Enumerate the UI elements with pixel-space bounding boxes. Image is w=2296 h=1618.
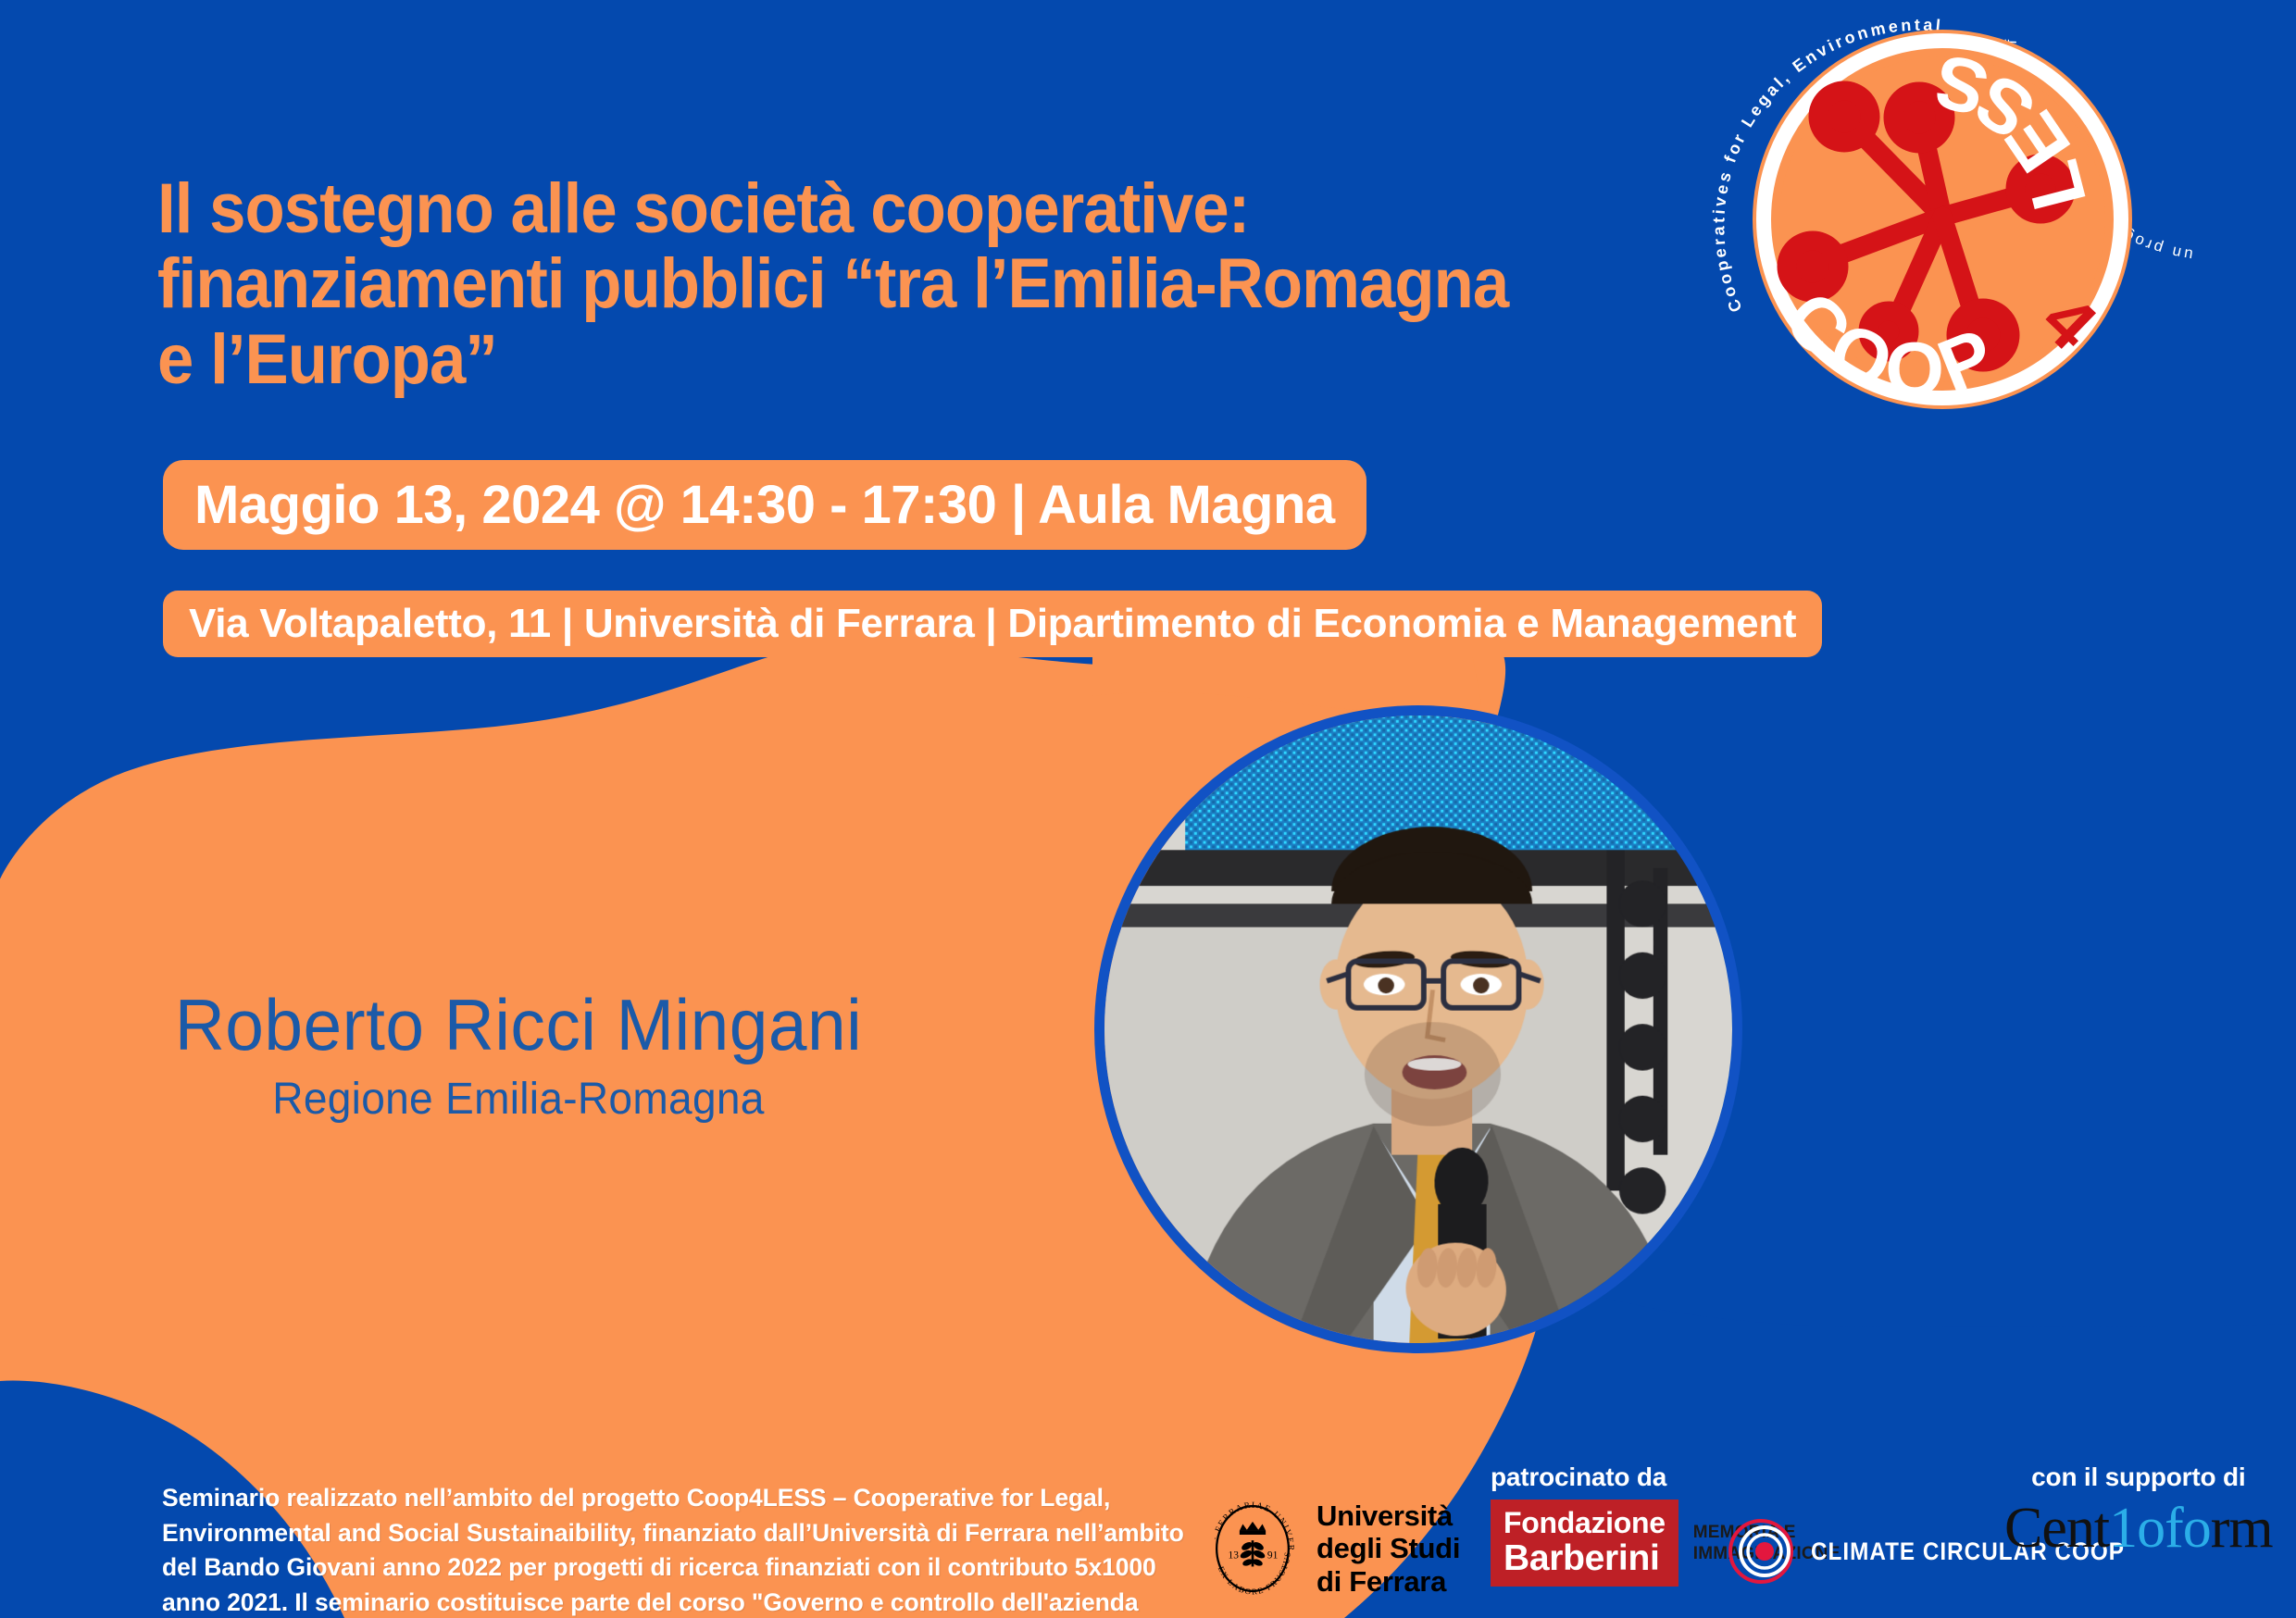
unife-name-line-2: degli Studi <box>1316 1532 1460 1564</box>
date-time-banner: Maggio 13, 2024 @ 14:30 - 17:30 | Aula M… <box>163 460 1366 550</box>
supporto-group: con il supporto di Cent1oform <box>2004 1462 2273 1557</box>
title-line-2: finanziamenti pubblici “tra l’Emilia-Rom… <box>157 246 1553 321</box>
centoform-part-2: o <box>2137 1497 2165 1560</box>
speaker-photo <box>1094 705 1742 1353</box>
centoform-one: 1 <box>2109 1497 2137 1560</box>
footer-note: Seminario realizzato nell’ambito del pro… <box>162 1481 1208 1618</box>
patrocinato-label: patrocinato da <box>1491 1462 1841 1492</box>
unife-name-line-1: Università <box>1316 1500 1460 1532</box>
event-poster: Il sostegno alle società cooperative: fi… <box>0 0 2296 1618</box>
poster-title: Il sostegno alle società cooperative: fi… <box>157 171 1657 397</box>
centoform-part-1: Cent <box>2004 1497 2109 1560</box>
speaker-block: Roberto Ricci Mingani Regione Emilia-Rom… <box>0 989 1037 1125</box>
centoform-part-5: rm <box>2211 1497 2273 1560</box>
unife-wordmark: Università degli Studi di Ferrara <box>1316 1500 1460 1598</box>
title-line-3: e l’Europa” <box>157 322 1553 397</box>
supporto-label: con il supporto di <box>2004 1462 2273 1492</box>
centoform-part-4: o <box>2183 1497 2211 1560</box>
speaker-name: Roberto Ricci Mingani <box>20 989 1016 1061</box>
fondazione-barberini-logo: Fondazione Barberini <box>1491 1500 1678 1587</box>
seal-year-left: 13 <box>1229 1550 1240 1562</box>
title-line-1: Il sostegno alle società cooperative: <box>157 171 1553 246</box>
speaker-photo-canvas <box>1104 716 1732 1343</box>
speaker-affiliation: Regione Emilia-Romagna <box>20 1074 1016 1125</box>
crown-icon <box>1240 1522 1266 1531</box>
centoform-part-3: f <box>2165 1497 2183 1560</box>
coop4less-logo: Cooperatives for Legal, Environmental, a… <box>1637 20 2248 418</box>
seal-year-right: 91 <box>1267 1550 1279 1562</box>
barberini-line-1: Fondazione <box>1504 1508 1666 1537</box>
centoform-logo: Cent1oform <box>2004 1500 2273 1557</box>
unife-seal-icon: · FERRARIAE UNIVERSITAS · · EX LABORE FR… <box>1204 1500 1302 1598</box>
venue-banner: Via Voltapaletto, 11 | Università di Fer… <box>163 591 1822 657</box>
crown-base <box>1240 1531 1266 1535</box>
unife-name-line-3: di Ferrara <box>1316 1565 1460 1598</box>
barberini-line-2: Barberini <box>1504 1540 1666 1576</box>
concentric-circles-icon <box>1728 1518 1794 1585</box>
unife-logo: · FERRARIAE UNIVERSITAS · · EX LABORE FR… <box>1204 1498 1460 1599</box>
